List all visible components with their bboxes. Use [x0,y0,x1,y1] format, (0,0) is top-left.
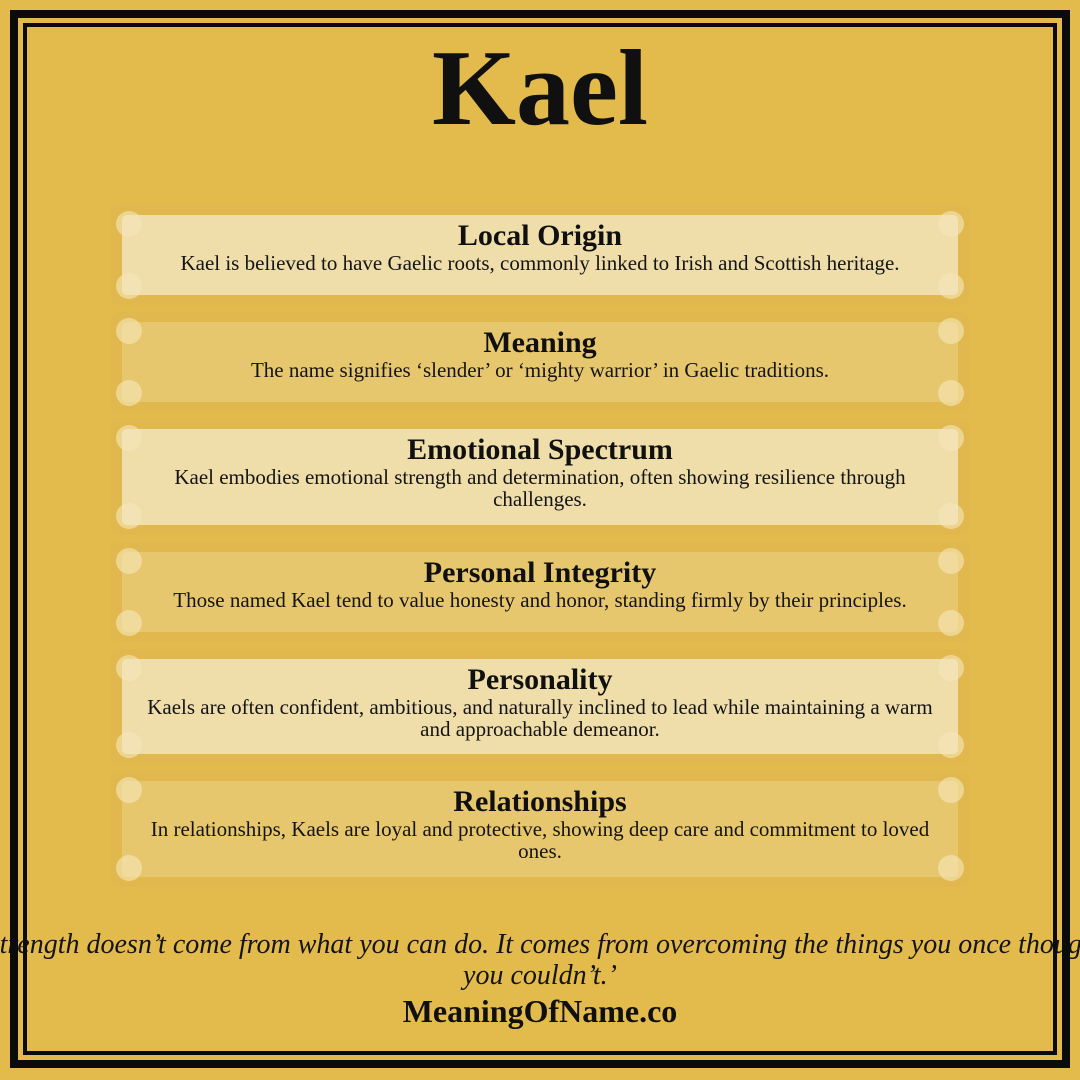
info-card-text: Kael is believed to have Gaelic roots, c… [140,252,940,274]
info-card-body: Local Origin Kael is believed to have Ga… [122,215,958,295]
info-card-text: Kael embodies emotional strength and det… [140,466,940,511]
info-card[interactable]: Personality Kaels are often confident, a… [110,649,970,765]
info-card-text: In relationships, Kaels are loyal and pr… [140,818,940,863]
poster: Kael Local Origin Kael is believed to ha… [0,0,1080,1080]
poster-content: Kael Local Origin Kael is believed to ha… [0,0,1080,1080]
info-card[interactable]: Relationships In relationships, Kaels ar… [110,771,970,887]
info-card[interactable]: Meaning The name signifies ‘slender’ or … [110,312,970,412]
page-title: Kael [0,30,1080,149]
info-card-title: Relationships [140,787,940,817]
info-card[interactable]: Personal Integrity Those named Kael tend… [110,542,970,642]
info-card-text: The name signifies ‘slender’ or ‘mighty … [140,359,940,381]
info-card-body: Emotional Spectrum Kael embodies emotion… [122,429,958,525]
info-card-text: Those named Kael tend to value honesty a… [140,589,940,611]
info-card-title: Local Origin [140,221,940,251]
info-card-text: Kaels are often confident, ambitious, an… [140,696,940,741]
info-card-body: Relationships In relationships, Kaels ar… [122,781,958,877]
info-card[interactable]: Local Origin Kael is believed to have Ga… [110,205,970,305]
info-card-title: Personality [140,665,940,695]
info-card-body: Personal Integrity Those named Kael tend… [122,552,958,632]
footer-quote: ‘Strength doesn’t come from what you can… [0,930,1080,992]
footer-brand: MeaningOfName.co [0,994,1080,1029]
info-card-body: Meaning The name signifies ‘slender’ or … [122,322,958,402]
info-card-title: Emotional Spectrum [140,435,940,465]
info-card-body: Personality Kaels are often confident, a… [122,659,958,755]
footer: ‘Strength doesn’t come from what you can… [0,930,1080,1029]
info-card-title: Personal Integrity [140,558,940,588]
card-stack: Local Origin Kael is believed to have Ga… [110,205,970,894]
info-card-title: Meaning [140,328,940,358]
info-card[interactable]: Emotional Spectrum Kael embodies emotion… [110,419,970,535]
